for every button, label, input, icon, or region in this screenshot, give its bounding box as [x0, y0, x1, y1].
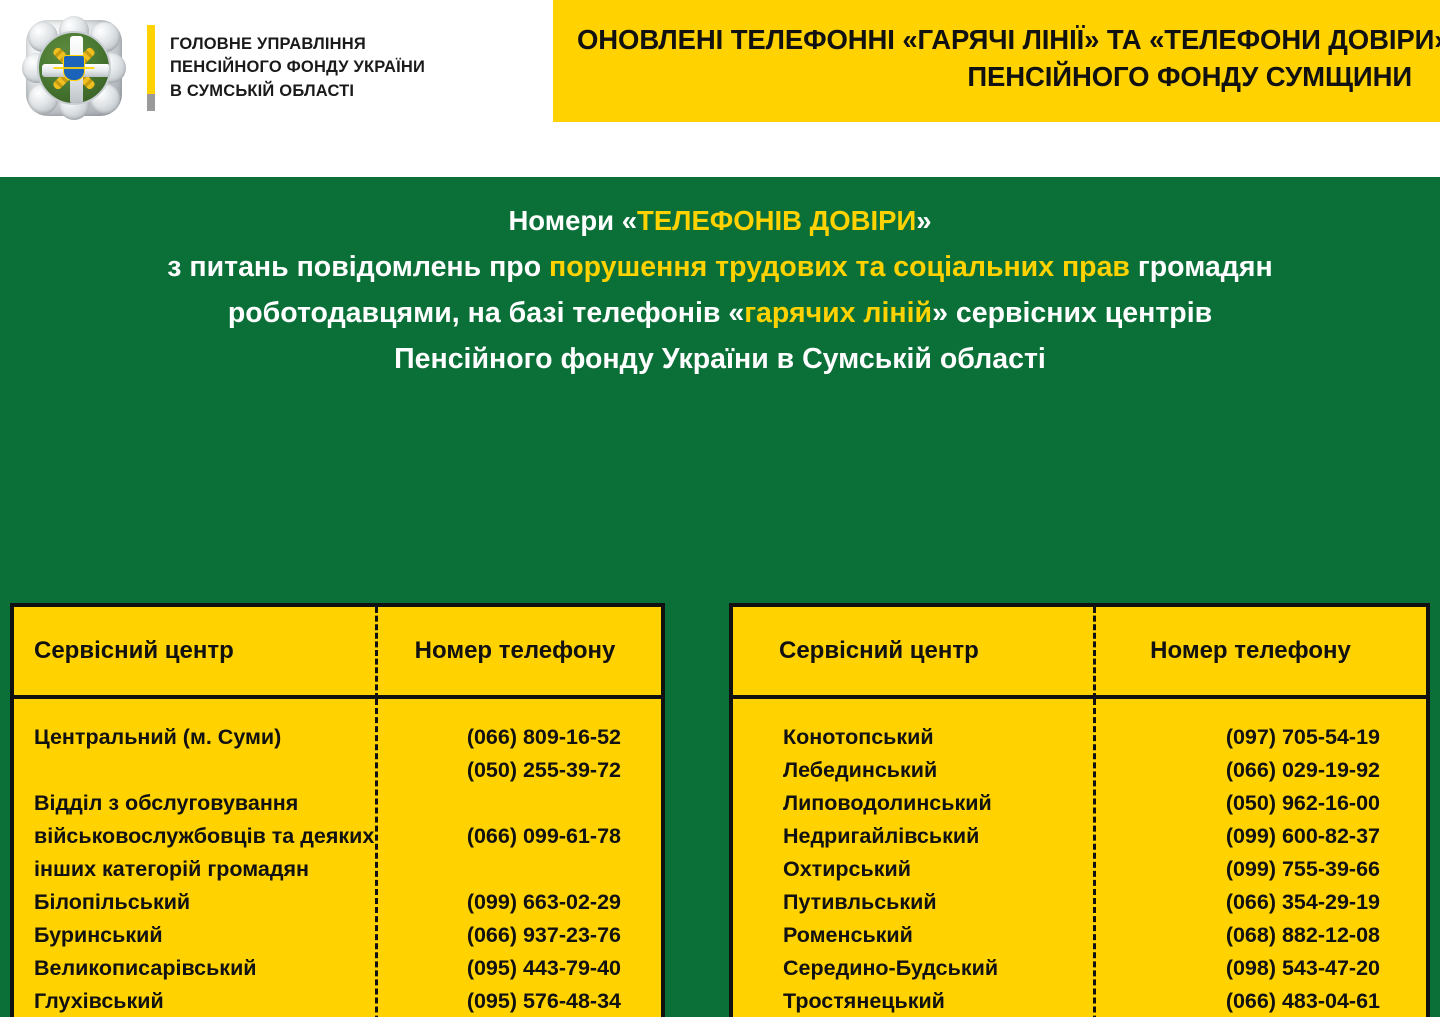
table-row: Лебединський(066) 029-19-92 — [733, 754, 1426, 787]
table-header-row: Сервісний центр Номер телефону — [14, 607, 661, 699]
table-row: Відділ з обслуговування військовослужбов… — [14, 787, 661, 886]
table-body: Центральний (м. Суми)(066) 809-16-52 (05… — [14, 699, 661, 1017]
cell-service-center: Конотопський — [733, 721, 1093, 754]
table-row: Липоводолинський(050) 962-16-00 — [733, 787, 1426, 820]
banner-line-2: ПЕНСІЙНОГО ФОНДУ СУМЩИНИ — [577, 59, 1412, 96]
brand-accent-bar — [147, 25, 155, 111]
emblem-green-disc: ⸻ — [37, 31, 111, 105]
cell-service-center: Путивльський — [733, 886, 1093, 919]
table-row: Охтирський(099) 755-39-66 — [733, 853, 1426, 886]
cell-phone-number: (098) 543-47-20 — [1093, 952, 1426, 985]
organization-line-2: ПЕНСІЙНОГО ФОНДУ УКРАЇНИ — [170, 56, 425, 79]
pension-fund-ukraine-emblem-icon: ⸻ — [22, 16, 126, 120]
cell-phone-number: (099) 663-02-29 — [375, 886, 661, 919]
cell-service-center: Білопільський — [14, 886, 375, 919]
cell-service-center: Буринський — [14, 919, 375, 952]
table-row: Тростянецький(066) 483-04-61 — [733, 985, 1426, 1017]
cell-phone-number: (066) 029-19-92 — [1093, 754, 1426, 787]
brand-block: ⸻ ГОЛОВНЕ УПРАВЛІННЯ ПЕНСІЙНОГО ФОНДУ УК… — [22, 12, 542, 124]
cell-phone-number: (099) 600-82-37 — [1093, 820, 1426, 853]
intro-line-4-pre: Пенсійного фонду України в Сумській обла… — [394, 343, 1046, 375]
cell-service-center: Глухівський — [14, 985, 375, 1017]
service-centers-table-right: Сервісний центр Номер телефону Конотопсь… — [729, 603, 1430, 1017]
intro-line-1-highlight: ТЕЛЕФОНІВ ДОВІРИ — [637, 205, 916, 236]
infographic-poster: ⸻ ГОЛОВНЕ УПРАВЛІННЯ ПЕНСІЙНОГО ФОНДУ УК… — [0, 0, 1440, 1017]
intro-line-1-pre: Номери « — [508, 205, 637, 236]
organization-line-1: ГОЛОВНЕ УПРАВЛІННЯ — [170, 33, 425, 56]
intro-line-3: роботодавцями, на базі телефонів «гарячи… — [0, 290, 1440, 336]
organization-name: ГОЛОВНЕ УПРАВЛІННЯ ПЕНСІЙНОГО ФОНДУ УКРА… — [170, 33, 425, 103]
intro-line-2-pre: з питань повідомлень про — [167, 251, 549, 283]
cell-phone-number: (068) 882-12-08 — [1093, 919, 1426, 952]
column-header-phone-number: Номер телефону — [1093, 637, 1426, 665]
table-row: Недригайлівський(099) 600-82-37 — [733, 820, 1426, 853]
table-row: Конотопський(097) 705-54-19 — [733, 721, 1426, 754]
banner-line-1: ОНОВЛЕНІ ТЕЛЕФОННІ «ГАРЯЧІ ЛІНІЇ» ТА «ТЕ… — [577, 22, 1412, 59]
cell-service-center: Охтирський — [733, 853, 1093, 886]
service-centers-table-left: Сервісний центр Номер телефону Центральн… — [10, 603, 665, 1017]
intro-line-1-post: » — [916, 205, 931, 236]
table-row: Роменський(068) 882-12-08 — [733, 919, 1426, 952]
cell-phone-number: (050) 962-16-00 — [1093, 787, 1426, 820]
intro-line-3-pre: роботодавцями, на базі телефонів « — [228, 297, 744, 329]
column-header-service-center: Сервісний центр — [14, 637, 375, 665]
cell-phone-number: (066) 099-61-78 — [375, 787, 661, 853]
table-row: Великописарівський(095) 443-79-40 — [14, 952, 661, 985]
cell-phone-number: (066) 483-04-61 — [1093, 985, 1426, 1017]
cell-service-center: Роменський — [733, 919, 1093, 952]
cell-service-center: Середино-Будський — [733, 952, 1093, 985]
cell-service-center: Великописарівський — [14, 952, 375, 985]
table-header-row: Сервісний центр Номер телефону — [733, 607, 1426, 699]
cell-phone-number: (097) 705-54-19 — [1093, 721, 1426, 754]
organization-line-3: В СУМСЬКІЙ ОБЛАСТІ — [170, 80, 425, 103]
emblem-trident-shield-icon: ⸻ — [63, 55, 85, 81]
column-header-phone-number: Номер телефону — [375, 637, 661, 665]
table-row: Путивльський(066) 354-29-19 — [733, 886, 1426, 919]
cell-service-center: Недригайлівський — [733, 820, 1093, 853]
cell-service-center: Липоводолинський — [733, 787, 1093, 820]
table-row: Глухівський(095) 576-48-34 — [14, 985, 661, 1017]
column-header-service-center: Сервісний центр — [733, 637, 1093, 665]
cell-phone-number: (066) 354-29-19 — [1093, 886, 1426, 919]
title-banner: ОНОВЛЕНІ ТЕЛЕФОННІ «ГАРЯЧІ ЛІНІЇ» ТА «ТЕ… — [553, 0, 1440, 122]
cell-phone-number: (066) 809-16-52 (050) 255-39-72 — [375, 721, 661, 787]
cell-phone-number: (066) 937-23-76 — [375, 919, 661, 952]
cell-service-center: Тростянецький — [733, 985, 1093, 1017]
intro-line-1: Номери «ТЕЛЕФОНІВ ДОВІРИ» — [0, 199, 1440, 244]
intro-line-3-highlight: гарячих ліній — [744, 297, 932, 329]
intro-paragraph: Номери «ТЕЛЕФОНІВ ДОВІРИ» з питань повід… — [0, 199, 1440, 382]
table-body: Конотопський(097) 705-54-19Лебединський(… — [733, 699, 1426, 1017]
cell-service-center: Відділ з обслуговування військовослужбов… — [14, 787, 375, 886]
trident-glyph: ⸻ — [53, 60, 95, 77]
table-row: Центральний (м. Суми)(066) 809-16-52 (05… — [14, 721, 661, 787]
table-row: Буринський(066) 937-23-76 — [14, 919, 661, 952]
intro-line-4: Пенсійного фонду України в Сумській обла… — [0, 336, 1440, 382]
green-body: Номери «ТЕЛЕФОНІВ ДОВІРИ» з питань повід… — [0, 177, 1440, 1017]
cell-phone-number: (095) 443-79-40 — [375, 952, 661, 985]
cell-service-center: Центральний (м. Суми) — [14, 721, 375, 754]
intro-line-2-post: громадян — [1130, 251, 1273, 283]
intro-line-2: з питань повідомлень про порушення трудо… — [0, 244, 1440, 290]
cell-service-center: Лебединський — [733, 754, 1093, 787]
cell-phone-number: (099) 755-39-66 — [1093, 853, 1426, 886]
table-row: Середино-Будський(098) 543-47-20 — [733, 952, 1426, 985]
header-bar: ⸻ ГОЛОВНЕ УПРАВЛІННЯ ПЕНСІЙНОГО ФОНДУ УК… — [0, 0, 1440, 177]
intro-line-3-post: » сервісних центрів — [932, 297, 1212, 329]
cell-phone-number: (095) 576-48-34 — [375, 985, 661, 1017]
table-row: Білопільський(099) 663-02-29 — [14, 886, 661, 919]
intro-line-2-highlight: порушення трудових та соціальних прав — [549, 251, 1130, 283]
